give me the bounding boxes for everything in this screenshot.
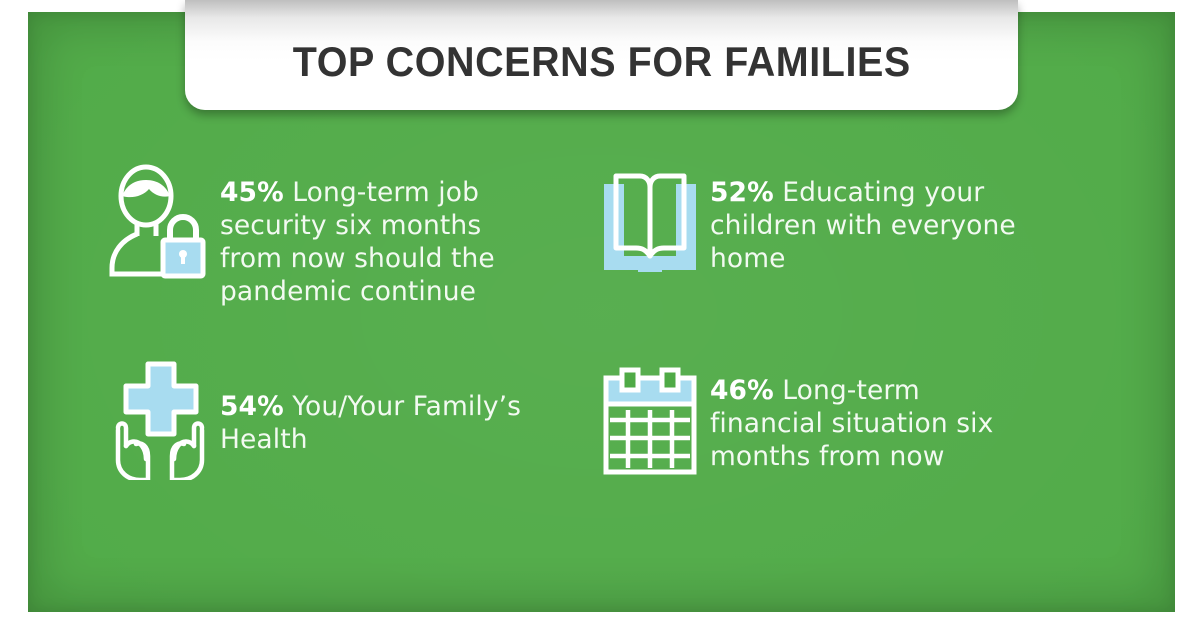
- calendar-icon: [590, 360, 710, 482]
- stat-text: 54% You/Your Family’s Health: [220, 360, 530, 456]
- stat-percent: 45%: [220, 177, 284, 208]
- page-title: TOP CONCERNS FOR FAMILIES: [292, 38, 910, 86]
- person-lock-icon: [100, 160, 220, 282]
- stat-item-family-health: 54% You/Your Family’s Health: [100, 360, 570, 520]
- stat-text: 45% Long-term job security six months fr…: [220, 160, 530, 308]
- open-book-icon: [590, 160, 710, 282]
- stat-percent: 54%: [220, 391, 284, 422]
- infographic-slide: TOP CONCERNS FOR FAMILIES: [0, 0, 1200, 627]
- stat-item-educating-children: 52% Educating your children with everyon…: [590, 160, 1060, 360]
- stat-text: 46% Long-term financial situation six mo…: [710, 360, 1030, 473]
- health-cross-hands-icon: [100, 360, 220, 478]
- stat-item-financial-situation: 46% Long-term financial situation six mo…: [590, 360, 1060, 520]
- stat-percent: 46%: [710, 375, 774, 406]
- stat-percent: 52%: [710, 177, 774, 208]
- title-banner: TOP CONCERNS FOR FAMILIES: [185, 0, 1018, 110]
- stat-item-job-security: 45% Long-term job security six months fr…: [100, 160, 570, 360]
- stat-text: 52% Educating your children with everyon…: [710, 160, 1030, 275]
- stats-grid: 45% Long-term job security six months fr…: [100, 160, 1100, 520]
